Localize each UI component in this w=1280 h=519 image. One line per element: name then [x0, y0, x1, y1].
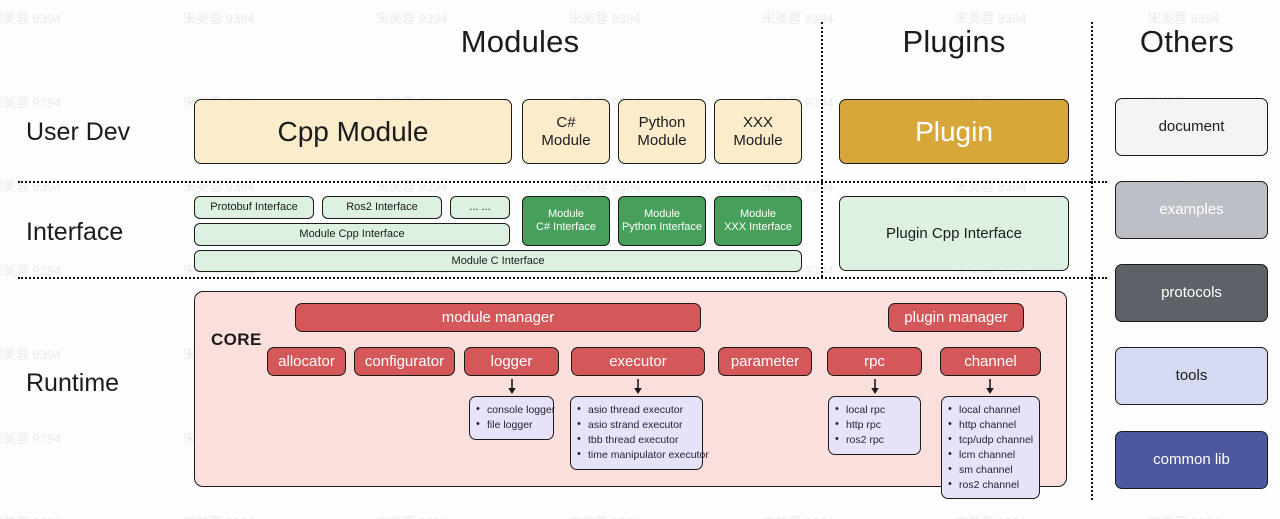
box-configurator[interactable]: configurator	[354, 347, 455, 376]
architecture-diagram: 宋美蓉 9394宋美蓉 9394宋美蓉 9394宋美蓉 9394宋美蓉 9394…	[0, 0, 1280, 519]
list-executor-details: asio thread executorasio strand executor…	[570, 396, 703, 470]
box-module-python-interface[interactable]: Module Python Interface	[618, 196, 706, 246]
list-item: lcm channel	[948, 448, 1031, 463]
list-item: tbb thread executor	[577, 433, 694, 448]
arrow-executor-down	[631, 379, 645, 395]
divider-userdev-interface	[18, 181, 1091, 183]
watermark-text: 宋美蓉 9394	[183, 176, 255, 195]
box-common-lib[interactable]: common lib	[1115, 431, 1268, 489]
row-label-runtime: Runtime	[26, 369, 119, 398]
box-parameter[interactable]: parameter	[718, 347, 812, 376]
box-module-cpp-interface[interactable]: Module Cpp Interface	[194, 223, 510, 246]
box-tools[interactable]: tools	[1115, 347, 1268, 405]
list-item: http channel	[948, 418, 1031, 433]
box-rpc[interactable]: rpc	[827, 347, 922, 376]
row-label-user-dev: User Dev	[26, 118, 130, 147]
list-channel-details: local channelhttp channeltcp/udp channel…	[941, 396, 1040, 499]
watermark-text: 宋美蓉 9394	[955, 512, 1027, 519]
watermark-text: 宋美蓉 9394	[0, 176, 62, 195]
box-csharp-module[interactable]: C# Module	[522, 99, 610, 164]
row-label-interface: Interface	[26, 218, 123, 247]
box-plugin[interactable]: Plugin	[839, 99, 1069, 164]
box-protocols[interactable]: protocols	[1115, 264, 1268, 322]
channel-detail-items: local channelhttp channeltcp/udp channel…	[948, 403, 1031, 492]
list-item: file logger	[476, 418, 545, 433]
watermark-text: 宋美蓉 9394	[183, 512, 255, 519]
box-plugin-cpp-interface[interactable]: Plugin Cpp Interface	[839, 196, 1069, 271]
box-logger[interactable]: logger	[464, 347, 559, 376]
list-item: asio thread executor	[577, 403, 694, 418]
box-module-manager[interactable]: module manager	[295, 303, 701, 332]
box-channel[interactable]: channel	[940, 347, 1041, 376]
divider-others-b	[1091, 277, 1107, 279]
executor-detail-items: asio thread executorasio strand executor…	[577, 403, 694, 463]
column-title-others: Others	[1094, 24, 1280, 60]
divider-interface-runtime	[18, 277, 1091, 279]
list-item: ros2 channel	[948, 478, 1031, 493]
box-ros2-interface[interactable]: Ros2 Interface	[322, 196, 442, 219]
logger-detail-items: console loggerfile logger	[476, 403, 545, 433]
list-item: asio strand executor	[577, 418, 694, 433]
list-item: console logger	[476, 403, 545, 418]
watermark-text: 宋美蓉 9394	[0, 92, 62, 111]
watermark-text: 宋美蓉 9394	[0, 344, 62, 363]
list-item: local channel	[948, 403, 1031, 418]
column-title-plugins: Plugins	[824, 24, 1084, 60]
arrow-logger-down	[505, 379, 519, 395]
box-module-c-interface[interactable]: Module C Interface	[194, 250, 802, 272]
divider-plugins-others	[1091, 22, 1093, 500]
watermark-text: 宋美蓉 9394	[569, 176, 641, 195]
box-xxx-module[interactable]: XXX Module	[714, 99, 802, 164]
divider-modules-plugins	[821, 22, 823, 277]
box-document[interactable]: document	[1115, 98, 1268, 156]
list-rpc-details: local rpchttp rpcros2 rpc	[828, 396, 921, 455]
list-item: tcp/udp channel	[948, 433, 1031, 448]
arrow-channel-down	[983, 379, 997, 395]
box-module-xxx-interface[interactable]: Module XXX Interface	[714, 196, 802, 246]
watermark-text: 宋美蓉 9394	[0, 8, 62, 27]
watermark-text: 宋美蓉 9394	[569, 512, 641, 519]
rpc-detail-items: local rpchttp rpcros2 rpc	[835, 403, 912, 448]
list-item: sm channel	[948, 463, 1031, 478]
list-item: time manipulator executor	[577, 448, 694, 463]
divider-others-a	[1091, 181, 1107, 183]
watermark-text: 宋美蓉 9394	[376, 176, 448, 195]
box-module-csharp-interface[interactable]: Module C# Interface	[522, 196, 610, 246]
box-allocator[interactable]: allocator	[267, 347, 346, 376]
column-title-modules: Modules	[360, 24, 680, 60]
box-cpp-module[interactable]: Cpp Module	[194, 99, 512, 164]
watermark-text: 宋美蓉 9394	[955, 176, 1027, 195]
core-label: CORE	[211, 330, 262, 350]
list-item: ros2 rpc	[835, 433, 912, 448]
watermark-text: 宋美蓉 9394	[1148, 512, 1220, 519]
arrow-rpc-down	[868, 379, 882, 395]
box-executor[interactable]: executor	[571, 347, 705, 376]
box-more-interface[interactable]: ... ...	[450, 196, 510, 219]
list-item: http rpc	[835, 418, 912, 433]
list-item: local rpc	[835, 403, 912, 418]
watermark-text: 宋美蓉 9394	[183, 8, 255, 27]
watermark-text: 宋美蓉 9394	[0, 428, 62, 447]
watermark-text: 宋美蓉 9394	[376, 512, 448, 519]
box-plugin-manager[interactable]: plugin manager	[888, 303, 1024, 332]
box-python-module[interactable]: Python Module	[618, 99, 706, 164]
watermark-text: 宋美蓉 9394	[762, 512, 834, 519]
box-examples[interactable]: examples	[1115, 181, 1268, 239]
list-logger-details: console loggerfile logger	[469, 396, 554, 440]
box-protobuf-interface[interactable]: Protobuf Interface	[194, 196, 314, 219]
watermark-text: 宋美蓉 9394	[0, 512, 62, 519]
